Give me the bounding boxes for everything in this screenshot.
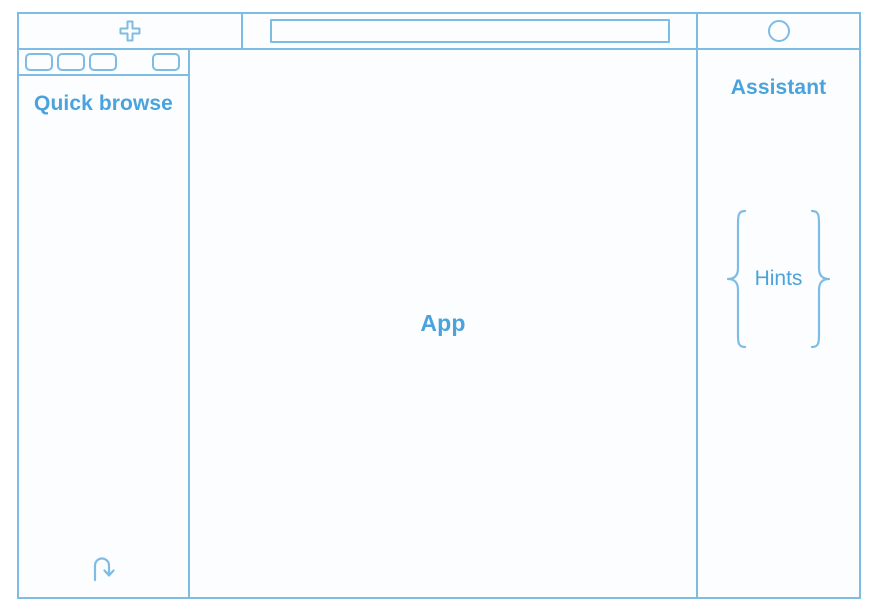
toolbar-center-section — [243, 14, 698, 48]
assistant-title: Assistant — [698, 76, 859, 100]
sidebar-panel: Quick browse — [19, 50, 190, 597]
app-label: App — [420, 310, 465, 337]
toolbar-right-section — [698, 14, 859, 48]
u-turn-arrow-icon — [90, 553, 118, 583]
left-brace-icon — [725, 208, 751, 350]
sidebar-title: Quick browse — [19, 90, 188, 118]
toolbar-left-section — [19, 14, 243, 48]
hints-label: Hints — [751, 267, 807, 291]
u-turn-arrow-button[interactable] — [90, 553, 118, 583]
top-toolbar — [19, 14, 859, 50]
search-input[interactable] — [270, 19, 670, 43]
circle-avatar-icon[interactable] — [768, 20, 790, 42]
hints-block: Hints — [698, 208, 859, 350]
plus-icon — [118, 19, 142, 43]
window-frame: Quick browse App Assistant — [17, 12, 861, 599]
content-columns: Quick browse App Assistant — [19, 50, 859, 597]
app-panel: App — [190, 50, 698, 597]
sidebar-footer — [19, 553, 188, 583]
add-button[interactable] — [118, 19, 142, 43]
assistant-panel: Assistant Hints — [698, 50, 859, 597]
wireframe-canvas: Quick browse App Assistant — [0, 0, 879, 616]
right-brace-icon — [806, 208, 832, 350]
